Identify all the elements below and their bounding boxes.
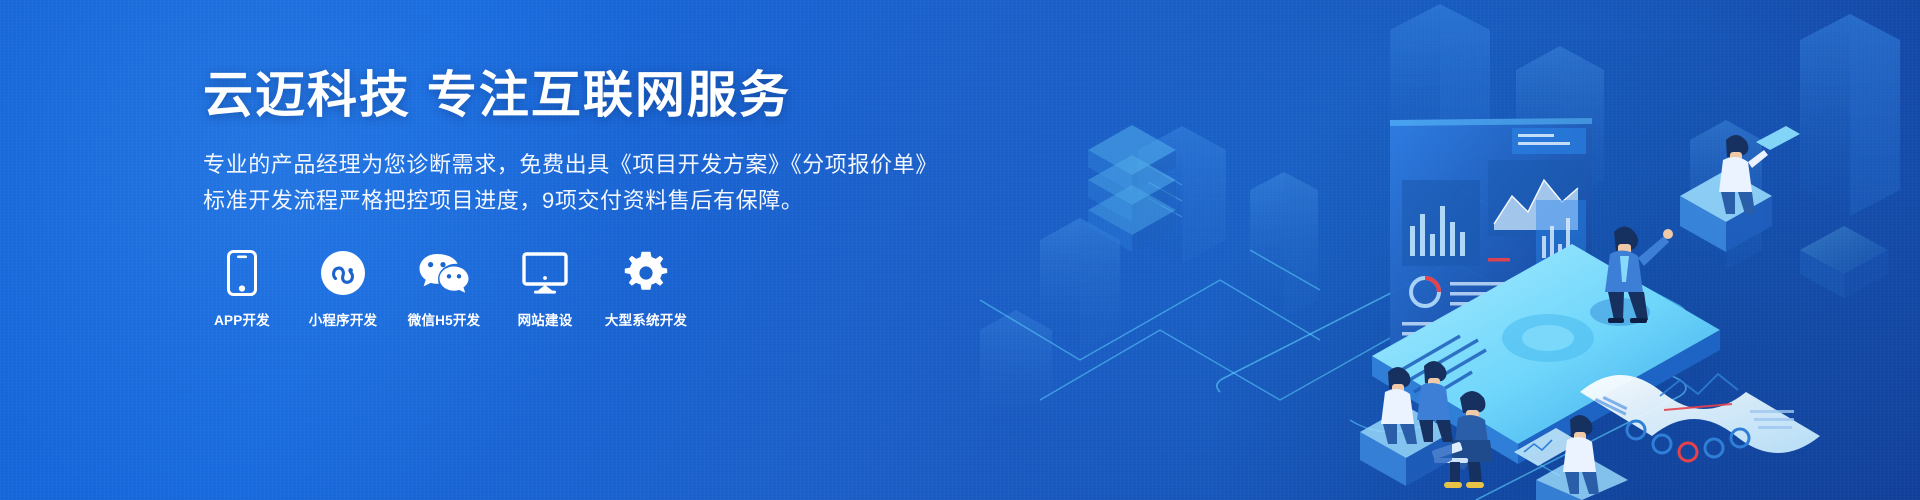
subtitle-line-2: 标准开发流程严格把控项目进度，9项交付资料售后有保障。	[203, 183, 923, 219]
banner-content: 云迈科技 专注互联网服务 专业的产品经理为您诊断需求，免费出具《项目开发方案》《…	[203, 66, 923, 329]
paper-report-scroll	[1580, 374, 1820, 461]
service-item-app[interactable]: APP开发	[203, 250, 281, 329]
service-item-large-system[interactable]: 大型系统开发	[607, 250, 685, 329]
service-label-large-system: 大型系统开发	[605, 309, 687, 329]
service-label-website: 网站建设	[518, 309, 573, 329]
service-label-wechat-h5: 微信H5开发	[408, 309, 480, 329]
two-people-talking	[1360, 361, 1453, 486]
subtitle-line-1: 专业的产品经理为您诊断需求，免费出具《项目开发方案》《分项报价单》	[203, 147, 923, 183]
service-item-wechat-h5[interactable]: 微信H5开发	[405, 250, 483, 329]
gear-icon	[624, 250, 668, 296]
service-label-mini-program: 小程序开发	[309, 309, 378, 329]
mini-program-icon	[321, 250, 365, 296]
server-stack	[1088, 125, 1176, 252]
floating-glass-panels	[1800, 226, 1888, 298]
isometric-illustration	[920, 0, 1920, 500]
service-item-mini-program[interactable]: 小程序开发	[304, 250, 382, 329]
dashboard-list-card	[1512, 128, 1586, 154]
wechat-icon	[418, 250, 470, 296]
banner-subtitle: 专业的产品经理为您诊断需求，免费出具《项目开发方案》《分项报价单》 标准开发流程…	[203, 147, 923, 218]
hero-banner: 云迈科技 专注互联网服务 专业的产品经理为您诊断需求，免费出具《项目开发方案》《…	[0, 0, 1920, 500]
held-tablet	[1756, 126, 1800, 150]
page-title: 云迈科技 专注互联网服务	[203, 66, 923, 124]
service-list: APP开发 小程序开发	[203, 250, 923, 329]
service-label-app: APP开发	[214, 309, 270, 329]
mobile-phone-icon	[227, 250, 257, 296]
service-item-website[interactable]: 网站建设	[506, 250, 584, 329]
dashboard-bar-chart	[1402, 180, 1480, 266]
desktop-monitor-icon	[522, 250, 568, 296]
